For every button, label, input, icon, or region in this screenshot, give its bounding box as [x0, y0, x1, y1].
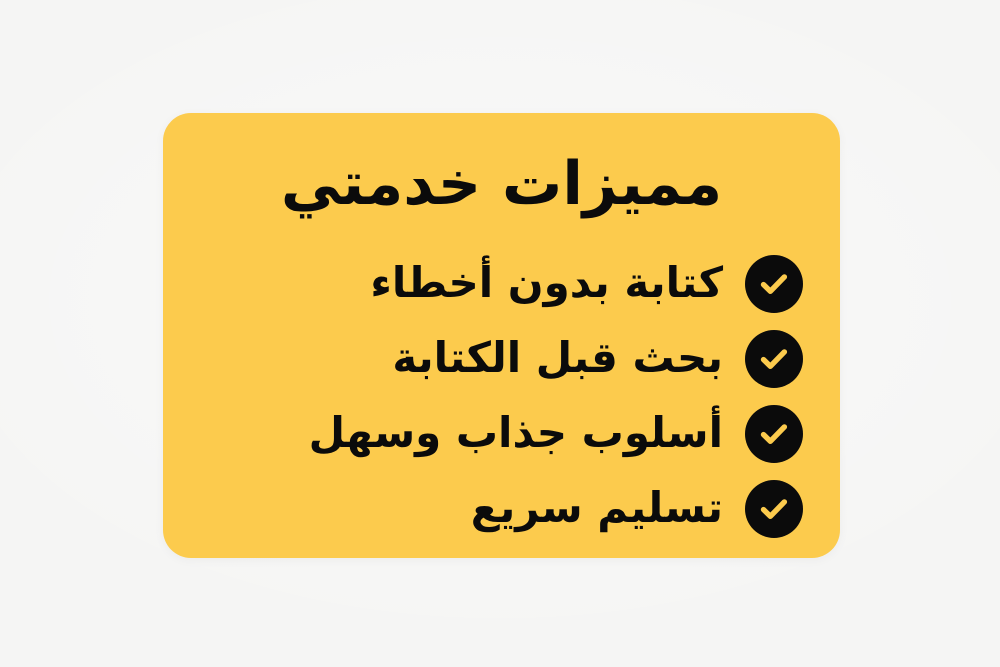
- feature-list: كتابة بدون أخطاء بحث قبل الكتابة أسلوب ج…: [163, 255, 840, 538]
- features-card: مميزات خدمتي كتابة بدون أخطاء بحث قبل ال…: [163, 113, 840, 558]
- screenshot-canvas: مميزات خدمتي كتابة بدون أخطاء بحث قبل ال…: [0, 0, 1000, 667]
- check-circle-icon: [745, 405, 803, 463]
- list-item-label: بحث قبل الكتابة: [163, 334, 723, 384]
- check-circle-icon: [745, 330, 803, 388]
- list-item-label: تسليم سريع: [163, 484, 723, 534]
- check-circle-icon: [745, 480, 803, 538]
- list-item: تسليم سريع: [163, 480, 803, 538]
- check-circle-icon: [745, 255, 803, 313]
- list-item-label: كتابة بدون أخطاء: [163, 259, 723, 309]
- list-item: أسلوب جذاب وسهل: [163, 405, 803, 463]
- list-item-label: أسلوب جذاب وسهل: [163, 409, 723, 459]
- list-item: بحث قبل الكتابة: [163, 330, 803, 388]
- list-item: كتابة بدون أخطاء: [163, 255, 803, 313]
- page-title: مميزات خدمتي: [163, 149, 840, 220]
